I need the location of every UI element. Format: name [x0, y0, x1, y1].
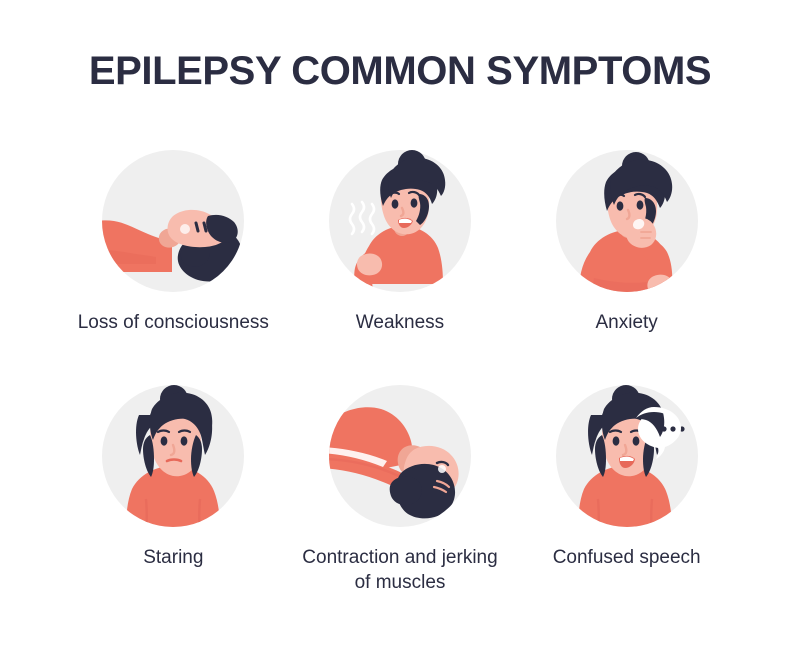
symptom-card-anxiety[interactable]: Anxiety — [513, 140, 740, 375]
symptom-caption: Loss of consciousness — [73, 310, 273, 335]
icon-circle-confused-speech — [556, 385, 698, 527]
symptom-caption: Contraction and jerking of muscles — [300, 545, 500, 595]
symptom-card-staring[interactable]: Staring — [60, 375, 287, 610]
icon-circle-staring — [102, 385, 244, 527]
symptom-card-loss-of-consciousness[interactable]: Loss of consciousness — [60, 140, 287, 375]
icon-circle-weakness — [329, 150, 471, 292]
symptom-caption: Anxiety — [527, 310, 727, 335]
icon-circle-contraction — [329, 385, 471, 527]
icon-circle-anxiety — [556, 150, 698, 292]
person-lying-unconscious-icon — [88, 128, 258, 298]
page-title: EPILEPSY COMMON SYMPTOMS — [0, 48, 800, 94]
icon-circle-loss-of-consciousness — [102, 150, 244, 292]
symptom-card-contraction-and-jerking-of-muscles[interactable]: Contraction and jerking of muscles — [287, 375, 514, 610]
symptoms-grid: Loss of consciousness — [60, 140, 740, 610]
woman-blank-stare-icon — [88, 363, 258, 533]
woman-biting-nails-anxious-icon — [542, 128, 712, 298]
woman-trembling-weak-icon — [315, 128, 485, 298]
symptom-card-weakness[interactable]: Weakness — [287, 140, 514, 375]
woman-speech-bubble-ellipsis-icon — [542, 363, 712, 533]
infographic-canvas: EPILEPSY COMMON SYMPTOMS — [0, 0, 800, 667]
symptom-caption: Staring — [73, 545, 273, 570]
symptom-caption: Weakness — [300, 310, 500, 335]
symptom-card-confused-speech[interactable]: Confused speech — [513, 375, 740, 610]
symptom-caption: Confused speech — [527, 545, 727, 570]
person-convulsing-icon — [315, 363, 485, 533]
